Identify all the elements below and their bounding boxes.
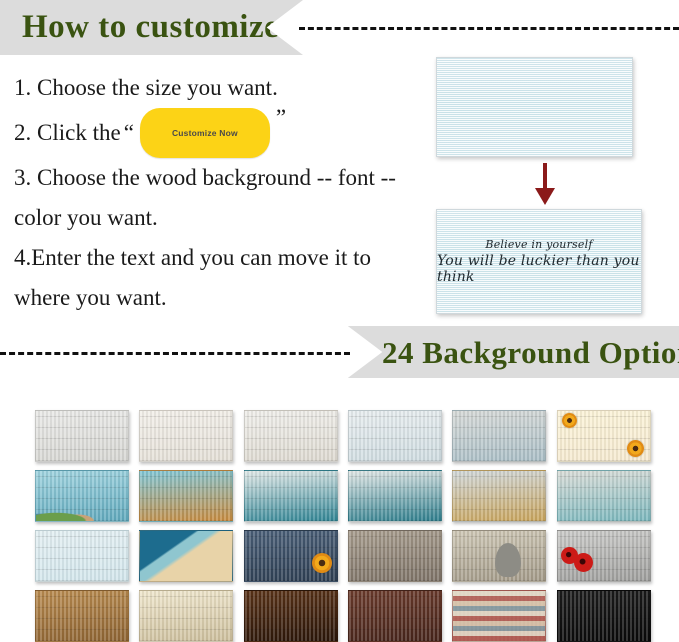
thumbnail-vintage-parchment[interactable] bbox=[139, 590, 233, 642]
thumbnail-cell bbox=[447, 410, 551, 462]
thumbnail-multicolor-striped-wood[interactable] bbox=[452, 590, 546, 642]
thumbnail-cell bbox=[134, 470, 238, 522]
step-1-text: 1. Choose the size you want. bbox=[14, 68, 278, 108]
thumbnail-cell bbox=[239, 590, 343, 642]
wood-grain bbox=[245, 471, 337, 521]
step-4: 4.Enter the text and you can move it to … bbox=[14, 238, 404, 318]
wood-grain bbox=[349, 411, 441, 461]
how-to-customize-banner: How to customize bbox=[0, 0, 303, 55]
thumbnail-cell bbox=[30, 470, 134, 522]
background-options-grid bbox=[30, 410, 656, 642]
page-title: How to customize bbox=[22, 11, 279, 44]
sunflower-icon bbox=[627, 440, 644, 457]
wood-grain bbox=[140, 411, 232, 461]
poppy-flower-icon bbox=[574, 553, 593, 572]
thumbnail-grey-brown-barnwood[interactable] bbox=[348, 530, 442, 582]
thumbnail-cell bbox=[343, 590, 447, 642]
thumbnail-whitewashed-planks[interactable] bbox=[35, 410, 129, 462]
thumbnail-cell bbox=[552, 530, 656, 582]
thumbnail-cell bbox=[134, 410, 238, 462]
thumbnail-golden-sunset-sea[interactable] bbox=[452, 470, 546, 522]
thumbnail-cell bbox=[447, 530, 551, 582]
panel-quote-line-1: Believe in yourself bbox=[485, 238, 592, 251]
thumbnail-cell bbox=[30, 530, 134, 582]
thumbnail-cell bbox=[343, 470, 447, 522]
wood-grain bbox=[453, 471, 545, 521]
thumbnail-cell bbox=[343, 410, 447, 462]
options-title: 24 Background Options bbox=[382, 337, 679, 368]
step-1: 1. Choose the size you want. bbox=[14, 68, 404, 108]
step-2: 2. Click the “ Customize Now ” bbox=[14, 108, 404, 158]
thumbnail-cell bbox=[239, 530, 343, 582]
wood-grain bbox=[453, 411, 545, 461]
thumbnail-cell bbox=[239, 470, 343, 522]
demo-text-panel: Believe in yourself You will be luckier … bbox=[436, 209, 642, 314]
thumbnail-teal-white-splash[interactable] bbox=[244, 470, 338, 522]
thumbnail-cell bbox=[447, 470, 551, 522]
thumbnail-cell bbox=[30, 590, 134, 642]
wood-grain bbox=[140, 591, 232, 641]
thumbnail-dark-brown-grunge[interactable] bbox=[244, 590, 338, 642]
thumbnail-buddha-zen-stones[interactable] bbox=[452, 530, 546, 582]
thumbnail-turquoise-weathered[interactable] bbox=[557, 470, 651, 522]
down-arrow-icon bbox=[533, 163, 557, 205]
thumbnail-cell bbox=[552, 470, 656, 522]
wood-grain bbox=[349, 471, 441, 521]
thumbnail-cell bbox=[134, 530, 238, 582]
sunflower-icon bbox=[312, 553, 332, 573]
thumbnail-cell bbox=[447, 590, 551, 642]
coral-reef bbox=[36, 501, 128, 521]
wood-grain bbox=[36, 531, 128, 581]
thumbnail-cell bbox=[343, 530, 447, 582]
step-3: 3. Choose the wood background -- font --… bbox=[14, 158, 404, 238]
thumbnail-cell bbox=[552, 410, 656, 462]
thumbnail-black-chalkboard-wood[interactable] bbox=[557, 590, 651, 642]
infographic-page: How to customize 1. Choose the size you … bbox=[0, 0, 679, 642]
dashed-connector-top bbox=[299, 27, 679, 30]
thumbnail-navy-wood-sunflower[interactable] bbox=[244, 530, 338, 582]
wood-grain bbox=[36, 411, 128, 461]
step-4-text: 4.Enter the text and you can move it to … bbox=[14, 245, 371, 310]
thumbnail-sunflower-cream[interactable] bbox=[557, 410, 651, 462]
steps-list: 1. Choose the size you want. 2. Click th… bbox=[14, 68, 404, 318]
thumbnail-teal-gradient-wood[interactable] bbox=[348, 470, 442, 522]
thumbnail-natural-oak-planks[interactable] bbox=[35, 590, 129, 642]
thumbnail-cell bbox=[552, 590, 656, 642]
wood-grain bbox=[349, 591, 441, 641]
thumbnail-red-poppies-grey-wood[interactable] bbox=[557, 530, 651, 582]
thumbnail-cell bbox=[239, 410, 343, 462]
wood-grain bbox=[36, 591, 128, 641]
wood-grain bbox=[140, 471, 232, 521]
demo-blank-panel bbox=[436, 57, 633, 157]
thumbnail-pale-blue-white-wood[interactable] bbox=[348, 410, 442, 462]
thumbnail-white-smooth-wood[interactable] bbox=[139, 410, 233, 462]
thumbnail-ocean-beach-shore[interactable] bbox=[139, 530, 233, 582]
step-3-text: 3. Choose the wood background -- font --… bbox=[14, 165, 396, 230]
panel-quote-line-2: You will be luckier than you think bbox=[437, 253, 641, 285]
thumbnail-distressed-white-script[interactable] bbox=[244, 410, 338, 462]
thumbnail-teal-orange-peeling[interactable] bbox=[139, 470, 233, 522]
wood-grain bbox=[558, 471, 650, 521]
wood-grain bbox=[245, 591, 337, 641]
sunflower-icon bbox=[562, 413, 577, 428]
beach-shoreline bbox=[140, 531, 232, 581]
color-stripes bbox=[453, 591, 545, 641]
thumbnail-cell bbox=[30, 410, 134, 462]
background-options-banner: 24 Background Options bbox=[334, 326, 679, 378]
wood-grain bbox=[349, 531, 441, 581]
close-quote: ” bbox=[273, 108, 289, 128]
thumbnail-rustic-dark-red-wood[interactable] bbox=[348, 590, 442, 642]
wood-grain bbox=[558, 591, 650, 641]
thumbnail-cell bbox=[134, 590, 238, 642]
thumbnail-light-blue-plain-wood[interactable] bbox=[35, 530, 129, 582]
dashed-connector-bottom bbox=[0, 352, 350, 355]
open-quote: “ bbox=[121, 113, 137, 153]
thumbnail-underwater-coral-reef[interactable] bbox=[35, 470, 129, 522]
customize-now-button[interactable]: Customize Now bbox=[140, 108, 270, 158]
step-2-prefix: 2. Click the bbox=[14, 113, 121, 153]
thumbnail-grey-blue-plank-mosaic[interactable] bbox=[452, 410, 546, 462]
wood-grain bbox=[245, 411, 337, 461]
